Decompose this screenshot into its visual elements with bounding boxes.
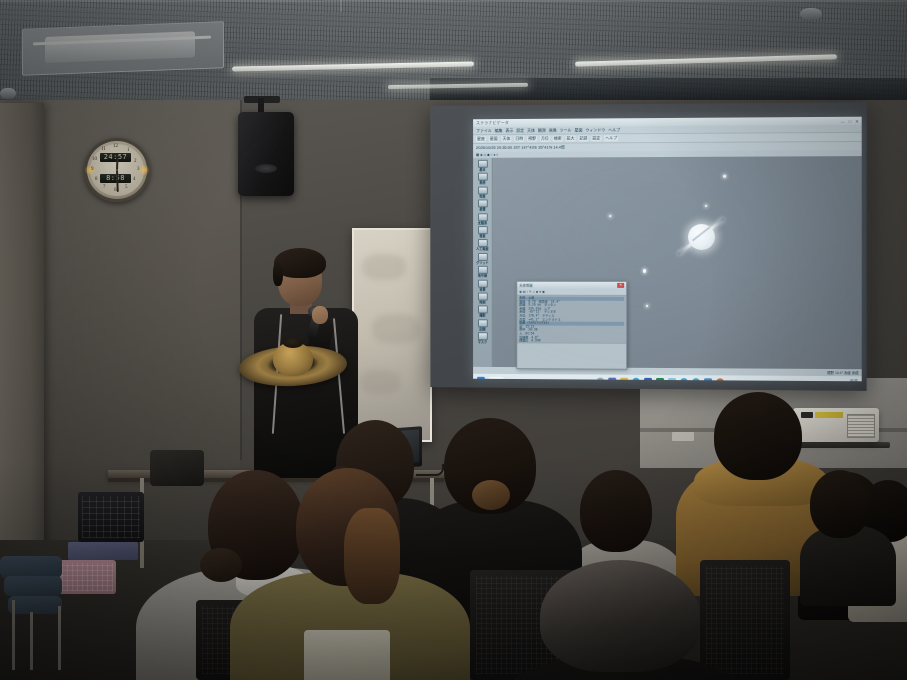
ceiling-seam	[0, 0, 907, 2]
stellanavigator-window[interactable]: ステラナビゲータ — □ ✕ ファイル 編集 表示 設定 天体 観測 画像 ツー…	[473, 117, 862, 382]
star	[609, 215, 611, 217]
presenter-hand	[312, 306, 328, 324]
vent-slot	[45, 31, 195, 63]
maximize-icon[interactable]: □	[849, 118, 851, 123]
side-tool-label: 太陽系	[478, 221, 487, 225]
star	[646, 305, 648, 307]
menu-item-tools[interactable]: ツール	[560, 127, 572, 133]
side-tool-constellation[interactable]: 星座	[475, 173, 491, 185]
menu-item-window[interactable]: ウィンドウ	[585, 127, 605, 133]
side-tool-label: 背景	[479, 287, 485, 291]
side-tool-satellite[interactable]: 人工衛星	[475, 240, 491, 252]
clock-numeral: 4	[133, 177, 136, 182]
toolbar-button-search[interactable]: 検索	[553, 136, 563, 142]
side-tool-label: 基本	[479, 168, 485, 172]
saturn-disk	[688, 224, 715, 250]
taskbar-clock-time: 20:35	[842, 380, 857, 382]
menu-item-edit[interactable]: 編集	[495, 128, 503, 134]
star	[723, 175, 726, 178]
menu-item-file[interactable]: ファイル	[476, 128, 492, 134]
clock-numeral: 11	[101, 147, 106, 152]
person-shoulders	[800, 526, 896, 606]
person-head	[714, 392, 802, 480]
side-toolbar[interactable]: 基本 星座 恒星 星雲 太陽系 彗星 人工衛星 グリッド 地平線 背景 時刻 撮…	[473, 158, 493, 367]
model-motion-blur	[241, 350, 345, 380]
row-key: 輝面比	[519, 339, 528, 342]
menu-item-image[interactable]: 画像	[549, 127, 557, 133]
side-tool-label: 人工衛星	[476, 247, 489, 251]
clock-numeral: 10	[92, 157, 97, 162]
presenter-hair	[274, 248, 326, 278]
clock-numeral: 7	[103, 185, 106, 190]
dialog-footer-pane	[517, 342, 626, 369]
chair-leg	[12, 600, 15, 670]
whiteboard-panel	[352, 228, 432, 442]
toolbar-button-zoom[interactable]: 拡大	[566, 136, 576, 142]
side-tool-label: 彗星	[479, 234, 485, 238]
stacked-blue-chair	[0, 556, 62, 578]
taskbar-system-tray[interactable]: ^ 人 🌐 🔊 20:35 2025/10/25	[817, 379, 857, 381]
dialog-toolbar-icons[interactable]: ◉ ▤ ↕ ✎ ◇ ◆ ● ▣	[519, 290, 545, 294]
side-tool-label: 時刻	[479, 301, 485, 305]
side-tool-background[interactable]: 背景	[475, 279, 491, 291]
side-tool-label: 地平線	[478, 274, 487, 278]
side-tool-stars[interactable]: 恒星	[475, 186, 491, 198]
toolbar-button-direction[interactable]: 方位	[540, 136, 550, 142]
wall-outlet	[672, 432, 694, 441]
spinning-saturn-model	[239, 332, 347, 392]
side-tool-record[interactable]: 記録	[475, 319, 491, 331]
menu-item-settings[interactable]: 設定	[516, 127, 524, 133]
window-controls[interactable]: — □ ✕	[841, 118, 859, 123]
saturn-with-rings[interactable]	[683, 219, 719, 255]
row-value: 0.998	[531, 340, 540, 343]
side-tool-label: グリッド	[476, 261, 489, 265]
side-tool-comet[interactable]: 彗星	[475, 226, 491, 238]
star	[705, 205, 707, 207]
menu-item-help[interactable]: ヘルプ	[608, 127, 620, 133]
minimize-icon[interactable]: —	[841, 118, 845, 123]
status-text: 視野 14.4° 赤経 赤緯	[827, 370, 859, 375]
chair-leg	[30, 612, 33, 670]
toolbar-button-settings[interactable]: 設定	[591, 135, 601, 141]
side-tool-label: マスク	[478, 340, 487, 344]
ceiling-mounted-speaker	[238, 112, 294, 196]
smoke-detector-right	[800, 8, 822, 20]
clock-numeral: 12	[113, 144, 118, 149]
audience-olive-jacket	[248, 468, 488, 680]
clock-numeral: 2	[134, 159, 137, 164]
speaker-cone	[255, 164, 277, 173]
smoke-detector-left	[0, 88, 16, 99]
side-tool-label: 星雲	[479, 208, 485, 212]
lecture-room-photo: 12 1 2 3 4 5 6 7 8 9 10 11 24:57 8:58 ステ…	[0, 0, 907, 680]
chair-leg	[58, 606, 61, 670]
person-head	[810, 470, 870, 538]
sky-view[interactable]: 天体情報 ✕ ◉ ▤ ↕ ✎ ◇ ◆ ● ▣ 名称 土星 等級 0.78	[493, 156, 862, 369]
jacket-back-patch	[304, 630, 390, 680]
audience-grey-hair-man	[540, 560, 790, 680]
side-tool-grid[interactable]: グリッド	[475, 253, 491, 265]
window-body: 基本 星座 恒星 星雲 太陽系 彗星 人工衛星 グリッド 地平線 背景 時刻 撮…	[473, 156, 862, 369]
black-storage-crate	[78, 492, 144, 542]
pink-storage-basket	[54, 560, 116, 594]
stacked-blue-chair	[8, 596, 62, 614]
object-info-dialog[interactable]: 天体情報 ✕ ◉ ▤ ↕ ✎ ◇ ◆ ● ▣ 名称 土星 等級 0.78	[516, 281, 627, 370]
toolbar-button-datetime[interactable]: 日時	[514, 136, 524, 142]
toolbar-button-fov[interactable]: 視野	[527, 136, 537, 142]
menu-item-starmap[interactable]: 星図	[575, 127, 583, 133]
side-tool-label: 撮影	[479, 314, 485, 318]
ceiling	[0, 0, 907, 105]
dialog-title: 天体情報	[519, 283, 532, 288]
side-tool-basic[interactable]: 基本	[475, 160, 491, 172]
ceiling-seam	[340, 0, 342, 12]
toolbar-button-record[interactable]: 記録	[578, 135, 588, 141]
window-title: ステラナビゲータ	[476, 120, 509, 126]
taskbar-clock[interactable]: 20:35 2025/10/25	[842, 380, 857, 382]
toolbar-button-starmap[interactable]: 星図	[489, 136, 499, 142]
clock-numeral: 8	[95, 177, 98, 182]
side-tool-time[interactable]: 時刻	[475, 293, 491, 305]
dialog-data-list[interactable]: 名称 土星 等級 0.78 視直径 16.4" 距離 9.26 au タ	[517, 296, 626, 343]
side-tool-label: 星座	[479, 181, 485, 185]
dialog-close-icon[interactable]: ✕	[617, 283, 624, 288]
wall-column	[0, 103, 44, 573]
close-icon[interactable]: ✕	[855, 118, 858, 123]
blue-storage-box	[68, 542, 138, 560]
side-tool-solarsystem[interactable]: 太陽系	[475, 213, 491, 225]
side-tool-horizon[interactable]: 地平線	[475, 266, 491, 278]
person-hair-side	[344, 508, 400, 604]
person-head	[540, 560, 700, 672]
star	[643, 269, 646, 273]
toolbar-button-help[interactable]: ヘルプ	[604, 135, 618, 141]
side-tool-nebula[interactable]: 星雲	[475, 200, 491, 212]
audience-right-edge	[810, 470, 906, 610]
clock-numeral: 3	[137, 167, 140, 172]
datetime-location-text: 2025/10/25 20:35:00 JST 147°43'E 35°41'N…	[476, 145, 565, 151]
clock-numeral: 9	[91, 167, 94, 172]
menu-item-view[interactable]: 表示	[505, 127, 513, 133]
wall-clock: 12 1 2 3 4 5 6 7 8 9 10 11 24:57 8:58	[84, 138, 150, 202]
side-tool-capture[interactable]: 撮影	[475, 306, 491, 318]
secondary-toolbar-icons[interactable]: ▦ ◈ ◇ ◆ ○ ● ◐	[476, 153, 498, 157]
model-cap	[283, 338, 303, 348]
menu-item-objects[interactable]: 天体	[527, 127, 535, 133]
toolbar-button-objects[interactable]: 天体	[502, 136, 512, 142]
clock-numeral: 5	[125, 185, 128, 190]
person-hair-bun	[200, 548, 242, 582]
side-tool-label: 恒星	[479, 194, 485, 198]
menu-item-observe[interactable]: 観測	[538, 127, 546, 133]
side-tool-label: 記録	[479, 327, 485, 331]
side-tool-mask[interactable]: マスク	[475, 332, 491, 344]
ceiling-air-vent	[22, 21, 224, 76]
stacked-blue-chair	[4, 576, 62, 596]
clock-glow-left	[84, 165, 96, 175]
toolbar-button-constellations[interactable]: 星座	[476, 136, 486, 142]
